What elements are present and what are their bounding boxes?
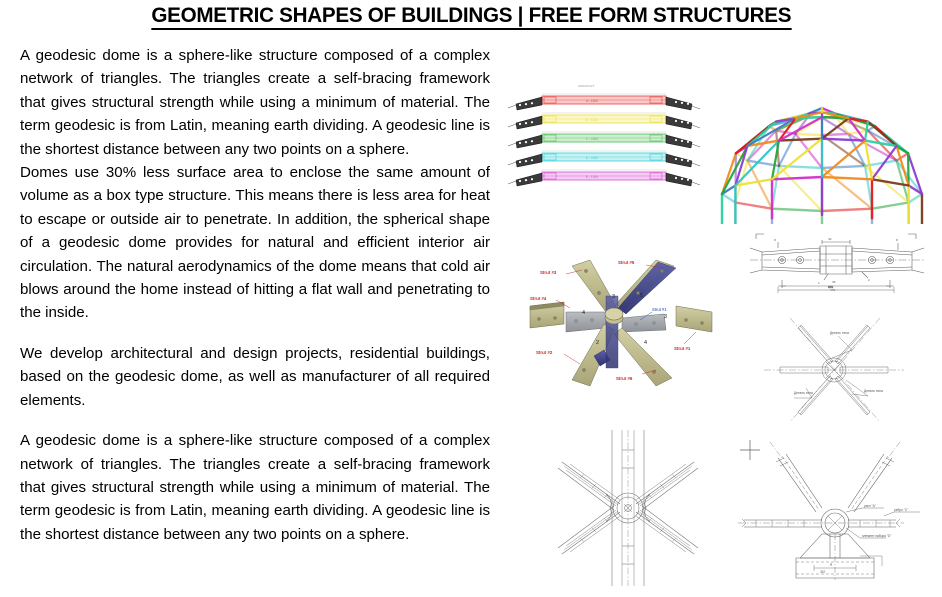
page-title-text: GEOMETRIC SHAPES OF BUILDINGS | FREE FOR… <box>151 4 791 30</box>
svg-text:42: 42 <box>828 237 832 241</box>
svg-text:Деталь типа: Деталь типа <box>864 389 883 393</box>
hub-position-3b: 3 <box>664 314 667 320</box>
svg-text:узел "А": узел "А" <box>864 504 876 508</box>
hub-label-strut-2: Strut #2 <box>536 350 553 355</box>
svg-text:C - 1520: C - 1520 <box>586 137 598 141</box>
hub-label-strut-1: Strut #1 <box>652 307 667 312</box>
svg-text:ШПАНГОУТ: ШПАНГОУТ <box>578 84 595 88</box>
paragraph-2: Domes use 30% less surface area to enclo… <box>20 161 490 325</box>
svg-text:470: 470 <box>828 285 833 289</box>
hub-label-strut-1b: Strut #1 <box>674 346 691 351</box>
paragraph-4: A geodesic dome is a sphere-like structu… <box>20 429 490 546</box>
hub-position-2: 2 <box>596 340 599 346</box>
svg-text:8: 8 <box>774 238 776 242</box>
svg-text:Деталь типа: Деталь типа <box>794 391 813 395</box>
svg-text:A - 1520: A - 1520 <box>586 99 598 103</box>
svg-text:Деталь типа: Деталь типа <box>830 331 849 335</box>
hub-label-strut-6: Strut #6 <box>616 376 633 381</box>
strut-row: C - 1520 <box>508 132 700 148</box>
hub-label-strut-5: Strut #5 <box>618 260 635 265</box>
svg-text:310: 310 <box>820 570 826 574</box>
svg-text:8: 8 <box>896 238 898 242</box>
svg-text:D - 1520: D - 1520 <box>586 156 598 160</box>
hub-connector-3d-exploded: Strut #3 Strut #5 Strut #4 Strut #2 Stru… <box>506 240 718 396</box>
svg-text:ребро "С": ребро "С" <box>894 508 908 512</box>
page-title: GEOMETRIC SHAPES OF BUILDINGS | FREE FOR… <box>0 4 942 30</box>
hub-position-3a: 3 <box>612 294 615 300</box>
geodesic-dome-render <box>706 48 938 224</box>
paragraph-3: We develop architectural and design proj… <box>20 342 490 412</box>
paragraph-1: A geodesic dome is a sphere-like structu… <box>20 44 490 161</box>
hub-radial-plan-cad-drawing: 470 <box>734 284 938 424</box>
strut-row: A - 1520 <box>508 94 700 110</box>
hub-position-5: 5 <box>640 293 643 299</box>
hub-label-strut-3: Strut #3 <box>540 270 557 275</box>
hub-position-4b: 4 <box>644 340 647 346</box>
hub-six-spoke-detail-cad-drawing <box>528 428 728 590</box>
strut-row: B - 1520 <box>508 113 700 129</box>
svg-text:R: R <box>830 563 833 567</box>
strut-row: E - 1520 <box>508 170 700 186</box>
document-page: GEOMETRIC SHAPES OF BUILDINGS | FREE FOR… <box>0 0 942 597</box>
hub-position-4a: 4 <box>582 310 585 316</box>
svg-text:элемент набора "D": элемент набора "D" <box>862 534 891 538</box>
strut-row: D - 1520 <box>508 151 700 167</box>
strut-length-schedule-drawing: A - 1520B - 1520C - 1520D - 1520E - 1520… <box>506 78 702 190</box>
svg-text:B - 1520: B - 1520 <box>586 118 598 122</box>
svg-text:E - 1520: E - 1520 <box>586 175 598 179</box>
svg-text:2: 2 <box>868 278 870 282</box>
hub-label-strut-4: Strut #4 <box>530 296 547 301</box>
article-text-column: A geodesic dome is a sphere-like structu… <box>20 44 490 546</box>
base-foundation-connection-cad-drawing: узел "А" ребро "С" элемент набора "D" R … <box>734 428 938 594</box>
